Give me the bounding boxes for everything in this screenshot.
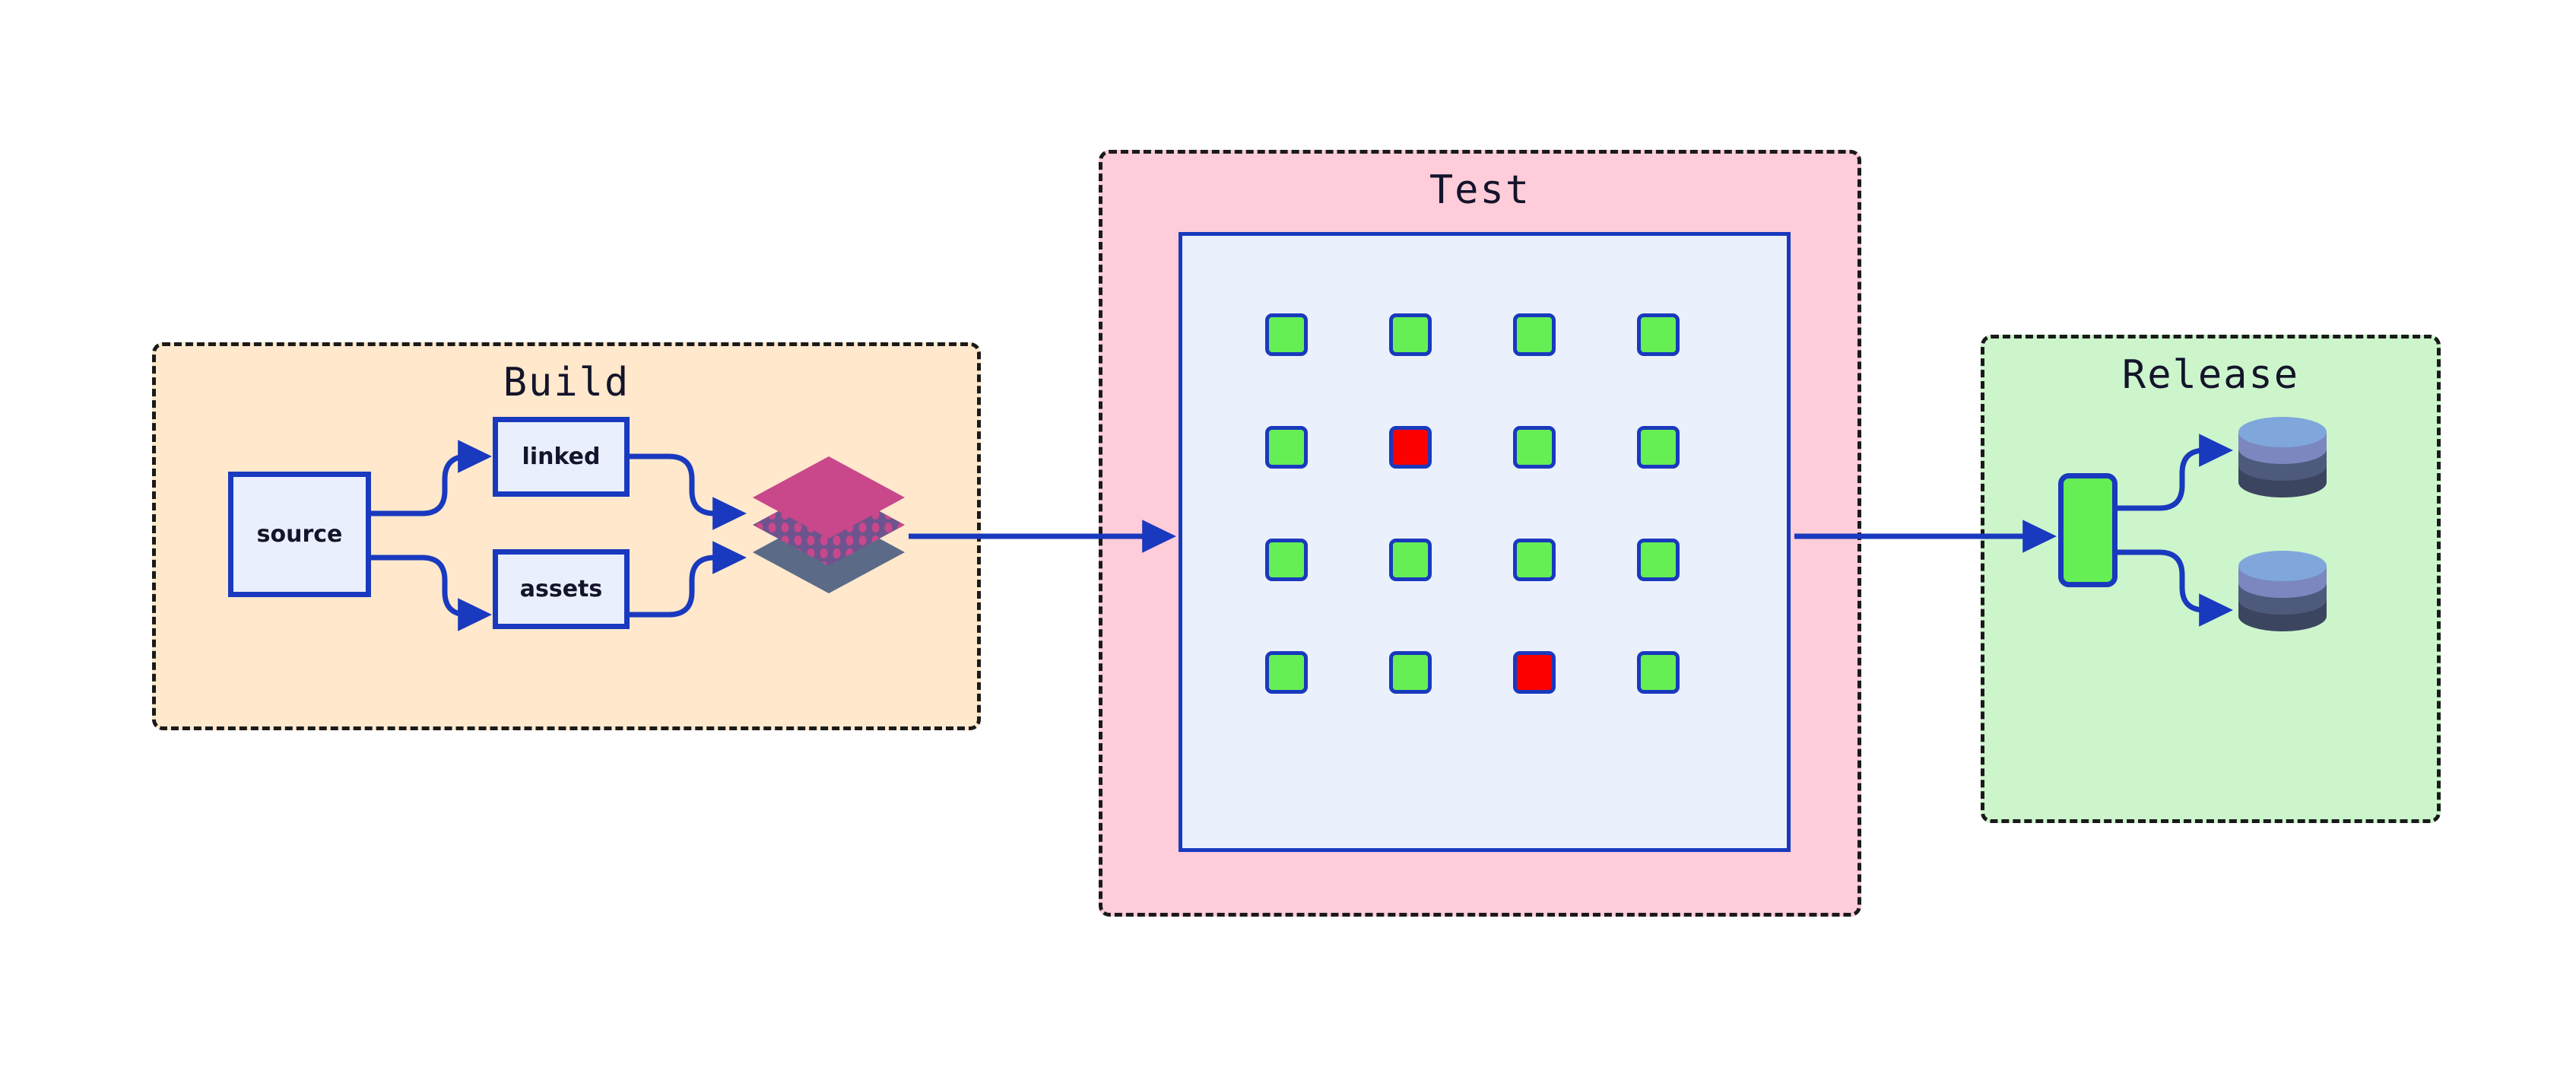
test-cell-r4-c1-pass[interactable] [1265, 651, 1308, 694]
test-cell-r2-c1-pass[interactable] [1265, 426, 1308, 469]
test-cell-r3-c3-pass[interactable] [1513, 539, 1556, 581]
node-source-label: source [257, 521, 343, 548]
test-cell-r4-c4-pass[interactable] [1637, 651, 1680, 694]
node-linked-label: linked [522, 443, 601, 470]
node-assets-label: assets [520, 576, 603, 602]
group-build-title: Build [156, 363, 977, 402]
database-icon[interactable] [2237, 549, 2328, 633]
release-gate-box[interactable] [2058, 473, 2118, 587]
test-cell-r4-c3-fail[interactable] [1513, 651, 1556, 694]
test-cell-r1-c4-pass[interactable] [1637, 313, 1680, 356]
test-cell-r1-c1-pass[interactable] [1265, 313, 1308, 356]
test-cell-r3-c2-pass[interactable] [1389, 539, 1432, 581]
node-linked[interactable]: linked [493, 417, 630, 497]
diagram-canvas: Build Test Release source linked assets [0, 0, 2576, 1068]
test-cell-r2-c4-pass[interactable] [1637, 426, 1680, 469]
test-cell-r3-c1-pass[interactable] [1265, 539, 1308, 581]
test-cell-r2-c2-fail[interactable] [1389, 426, 1432, 469]
test-cell-r1-c3-pass[interactable] [1513, 313, 1556, 356]
test-cell-r2-c3-pass[interactable] [1513, 426, 1556, 469]
group-release-title: Release [1984, 355, 2437, 395]
test-cell-r4-c2-pass[interactable] [1389, 651, 1432, 694]
test-cell-r3-c4-pass[interactable] [1637, 539, 1680, 581]
test-cell-r1-c2-pass[interactable] [1389, 313, 1432, 356]
layers-icon [753, 456, 905, 593]
group-release: Release [1981, 335, 2441, 823]
node-assets[interactable]: assets [493, 549, 630, 629]
database-icon[interactable] [2237, 415, 2328, 499]
group-test-title: Test [1102, 170, 1857, 210]
node-source[interactable]: source [228, 472, 371, 597]
